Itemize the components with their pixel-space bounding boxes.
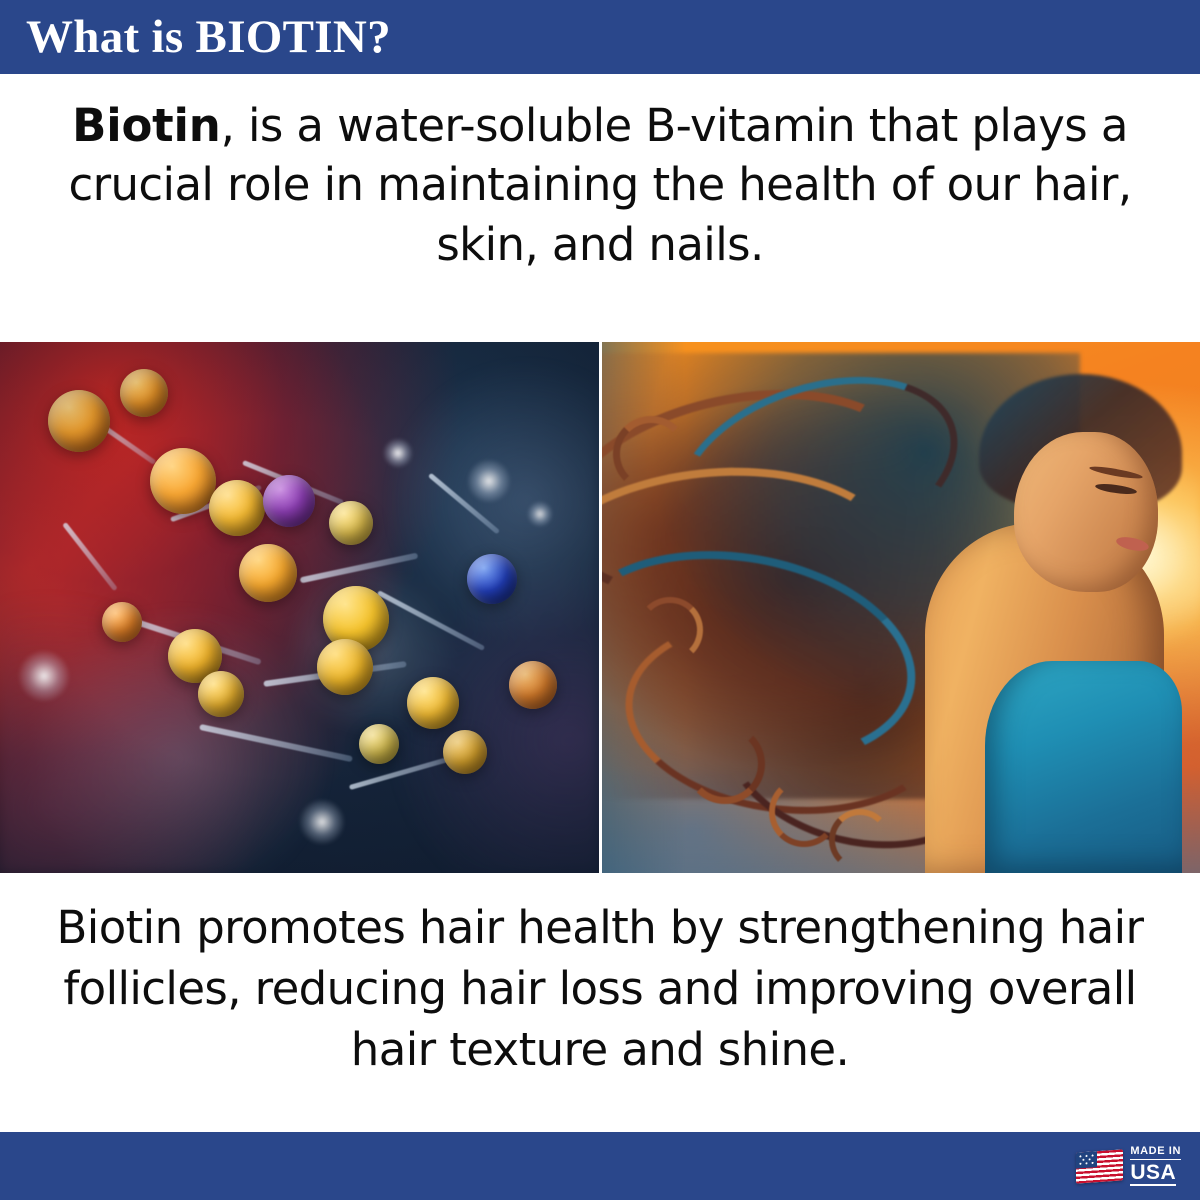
- hair-curl: [829, 809, 891, 871]
- hair-illustration-image: [602, 342, 1200, 873]
- molecule-atom-sphere: [467, 554, 517, 604]
- molecule-atom-sphere: [48, 390, 110, 452]
- flag-stars: [1077, 1152, 1096, 1167]
- intro-paragraph: Biotin, is a water-soluble B-vitamin tha…: [0, 74, 1200, 342]
- flag-canton: [1076, 1151, 1097, 1169]
- us-flag-icon: [1076, 1149, 1123, 1183]
- made-in-usa-badge: MADE IN USA: [1071, 1143, 1186, 1189]
- molecule-atom-sphere: [120, 369, 168, 417]
- intro-body-text: , is a water-soluble B-vitamin that play…: [68, 99, 1131, 271]
- molecule-atom-sphere: [150, 448, 216, 514]
- figure-dress: [985, 661, 1183, 873]
- intro-lead-word: Biotin: [72, 99, 220, 152]
- molecule-atom-sphere: [509, 661, 557, 709]
- molecule-atom-sphere: [102, 602, 142, 642]
- footer-band: MADE IN USA: [0, 1132, 1200, 1200]
- molecule-light-spark: [18, 650, 70, 702]
- molecule-atom-sphere: [263, 475, 315, 527]
- badge-made-in-label: MADE IN: [1130, 1146, 1181, 1160]
- badge-usa-label: USA: [1130, 1162, 1176, 1186]
- badge-text-block: MADE IN USA: [1130, 1146, 1181, 1186]
- molecule-atom-sphere: [239, 544, 297, 602]
- page-title: What is BIOTIN?: [26, 14, 391, 61]
- hair-curl: [637, 597, 703, 663]
- molecule-light-spark: [467, 459, 511, 503]
- image-strip: [0, 342, 1200, 873]
- molecule-atom-sphere: [407, 677, 459, 729]
- molecule-light-spark: [299, 799, 345, 845]
- molecule-image: [0, 342, 599, 873]
- molecule-light-spark: [527, 501, 553, 527]
- outro-paragraph: Biotin promotes hair health by strengthe…: [0, 873, 1200, 1132]
- molecule-light-spark: [383, 438, 413, 468]
- molecule-atom-sphere: [443, 730, 487, 774]
- figure-head: [1014, 432, 1158, 591]
- biotin-infographic: What is BIOTIN? Biotin, is a water-solub…: [0, 0, 1200, 1200]
- header-band: What is BIOTIN?: [0, 0, 1200, 74]
- molecule-atom-sphere: [198, 671, 244, 717]
